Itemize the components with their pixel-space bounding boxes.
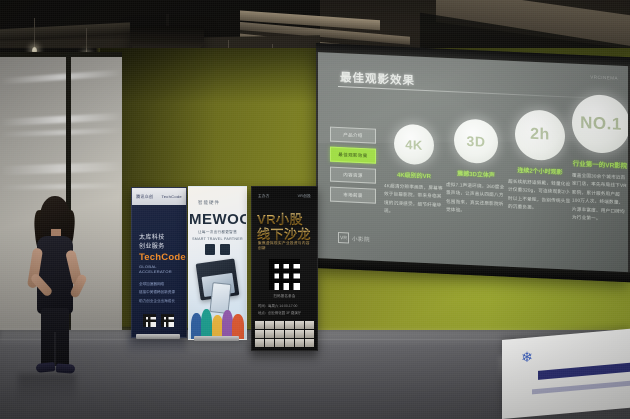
sponsor-logo bbox=[265, 330, 274, 338]
sponsor-logo bbox=[285, 339, 294, 347]
floor-sign: ❄ bbox=[502, 329, 630, 419]
slide-logo-text: 小影院 bbox=[352, 234, 370, 243]
banner-vr-top-right: VR创投 bbox=[298, 194, 311, 199]
sponsor-logo bbox=[275, 339, 284, 347]
banner-techcode-heading-2: 创业服务 bbox=[139, 241, 165, 250]
floor-reflection bbox=[18, 374, 76, 402]
slide-bubble-label-2: 3D bbox=[467, 133, 486, 150]
banner-vr-subtitle: 聚焦虚拟现实产业投资与内容创新 bbox=[258, 241, 311, 251]
banner-vr-top-row: 主办方 VR创投 bbox=[258, 194, 311, 199]
glass-mullion bbox=[0, 52, 122, 57]
banner-mewoo-tagline: 让每一次出行都更智慧 SMART TRAVEL PARTNER bbox=[189, 229, 246, 243]
pendant-wire bbox=[86, 28, 87, 54]
qr-code-icon bbox=[143, 314, 156, 327]
slide-column-heading-4: 行业第一的VR影院 bbox=[572, 158, 628, 171]
sponsor-logo bbox=[265, 339, 274, 347]
qr-code-icon bbox=[269, 259, 300, 290]
slide-column-heading-2: 震撼3D立体声 bbox=[446, 168, 506, 180]
sponsor-logo bbox=[305, 330, 314, 338]
slide-column-body-2: 虚拟7.1声道环绕，360度全景声场，让声音从四面八方包围而来，真实还原影院听觉… bbox=[446, 181, 506, 218]
slide-bubble-label-1: 4K bbox=[405, 137, 423, 153]
sponsor-logo bbox=[295, 321, 304, 329]
banner-techcode: 腾讯众创 TechCode 太库科技 创业服务 TechCode GLOBAL … bbox=[131, 187, 187, 338]
banner-techcode-base bbox=[136, 334, 180, 339]
projection-screen: 最佳观影效果 产品介绍 最佳观影效果 内容资源 市场前景 4K 4K级别的VR … bbox=[316, 43, 630, 282]
pendant-wire bbox=[34, 18, 35, 48]
banner-mewoo-kicker: 智能硬件 bbox=[198, 200, 220, 206]
slide-logo: VR 小影院 bbox=[338, 232, 370, 244]
slide-bubble-1: 4K bbox=[394, 124, 434, 166]
banner-vr-mid-text: 时间：每周六 14:00-17:00 地点：创业孵化园 3F 路演厅 bbox=[258, 303, 311, 317]
slide-column-heading-3: 连续2个小时观影 bbox=[508, 165, 572, 177]
badge-icon bbox=[220, 244, 230, 255]
banner-techcode-brand: TechCode bbox=[139, 252, 186, 263]
banner-mewoo-base bbox=[194, 336, 239, 341]
slide-column-4: NO.1 行业第一的VR影院 覆盖全国30余个城市近百家门店，率先布局线下VR影… bbox=[572, 94, 628, 225]
sponsor-logo bbox=[295, 339, 304, 347]
slide-nav-item-3: 内容资源 bbox=[330, 167, 376, 184]
banner-vr-qr-caption: 扫码报名参会 bbox=[252, 293, 317, 298]
banner-mewoo-badges bbox=[189, 244, 246, 255]
slide-column-body-4: 覆盖全国30余个城市近百家门店，率先布局线下VR影院，累计服务用户超100万人次… bbox=[572, 172, 628, 225]
slide-nav: 产品介绍 最佳观影效果 内容资源 市场前景 bbox=[330, 127, 374, 209]
silhouette bbox=[201, 309, 212, 339]
slide-bubble-label-4: NO.1 bbox=[580, 113, 622, 135]
leg-gap bbox=[54, 332, 56, 366]
sponsor-logo bbox=[255, 321, 264, 329]
banner-techcode-top-right: TechCode bbox=[161, 194, 181, 199]
sponsor-logo bbox=[285, 330, 294, 338]
glass-reflection bbox=[0, 128, 122, 137]
sign-stripe-secondary bbox=[532, 381, 630, 395]
slide-nav-item-1: 产品介绍 bbox=[330, 127, 376, 144]
sponsor-logo bbox=[255, 330, 264, 338]
slide-bubble-2: 3D bbox=[454, 118, 498, 164]
photo-scene: 最佳观影效果 产品介绍 最佳观影效果 内容资源 市场前景 4K 4K级别的VR … bbox=[0, 0, 630, 419]
slide-column-2: 3D 震撼3D立体声 虚拟7.1声道环绕，360度全景声场，让声音从四面八方包围… bbox=[446, 118, 506, 218]
sponsor-logo bbox=[305, 321, 314, 329]
slide-title: 最佳观影效果 bbox=[340, 69, 415, 88]
glass-reflection bbox=[0, 113, 122, 126]
right-shoe bbox=[56, 363, 76, 373]
banner-mewoo-brand: MEWOO bbox=[189, 211, 246, 228]
sponsor-logo bbox=[265, 321, 274, 329]
slide-nav-item-2: 最佳观影效果 bbox=[330, 147, 376, 164]
slide-nav-item-4: 市场前景 bbox=[330, 187, 376, 204]
torso bbox=[37, 236, 73, 314]
sponsor-logo bbox=[295, 330, 304, 338]
glass-reflection bbox=[0, 162, 122, 175]
sponsor-logo bbox=[275, 321, 284, 329]
banner-vr-sponsor-grid bbox=[255, 321, 314, 347]
sponsor-logo bbox=[285, 321, 294, 329]
banner-techcode-sub: GLOBAL ACCELERATOR bbox=[139, 264, 186, 274]
sponsor-logo bbox=[275, 330, 284, 338]
banner-mewoo: 智能硬件 MEWOO 让每一次出行都更智慧 SMART TRAVEL PARTN… bbox=[188, 186, 247, 340]
slide-column-3: 2h 连续2个小时观影 超长续航舒适佩戴，轻量化设计仅重320g，可连续观影2小… bbox=[508, 109, 572, 215]
sponsor-logo bbox=[305, 339, 314, 347]
banner-techcode-heading-1: 太库科技 bbox=[139, 232, 165, 241]
qr-code-icon bbox=[161, 314, 174, 327]
banner-techcode-qr-group bbox=[143, 314, 174, 327]
slide-bubble-3: 2h bbox=[515, 109, 565, 161]
slide-logo-mark: VR bbox=[338, 232, 349, 243]
sponsor-logo bbox=[255, 339, 264, 347]
slide-column-heading-1: 4K级别的VR bbox=[384, 169, 444, 181]
slide-column-1: 4K 4K级别的VR 4K超清分辨率画质，屏幕等效于巨幕影院，带来身临其境的沉浸… bbox=[384, 123, 444, 219]
slide-bubble-label-3: 2h bbox=[530, 126, 550, 145]
slide-column-body-1: 4K超清分辨率画质，屏幕等效于巨幕影院，带来身临其境的沉浸感受，细节纤毫毕现。 bbox=[384, 182, 444, 219]
slide-surface: 最佳观影效果 产品介绍 最佳观影效果 内容资源 市场前景 4K 4K级别的VR … bbox=[318, 52, 628, 272]
people-silhouettes bbox=[189, 307, 246, 339]
glass-reflection bbox=[0, 70, 122, 85]
slide-column-body-3: 超长续航舒适佩戴，轻量化设计仅重320g，可连续观影2小时以上不晕眩，告别传统头… bbox=[508, 178, 572, 215]
left-shoe bbox=[36, 362, 56, 373]
badge-icon bbox=[205, 244, 215, 255]
banner-vr-top-left: 主办方 bbox=[258, 194, 270, 199]
sign-stripe bbox=[538, 363, 630, 380]
banner-techcode-top-left: 腾讯众创 bbox=[136, 194, 153, 200]
glass-reflection bbox=[0, 183, 122, 190]
snowflake-icon: ❄ bbox=[520, 349, 534, 364]
banner-vr-salon: 主办方 VR创投 VR小股 线下沙龙 聚焦虚拟现实产业投资与内容创新 扫码报名参… bbox=[251, 186, 318, 351]
presenter bbox=[20, 196, 92, 378]
slide-bubble-4: NO.1 bbox=[572, 94, 628, 155]
banner-techcode-top-row: 腾讯众创 TechCode bbox=[132, 188, 186, 205]
banner-techcode-lines: 全球加速器网络 链接中美德韩创新资源 助力创业企业出海成长 bbox=[139, 280, 175, 305]
